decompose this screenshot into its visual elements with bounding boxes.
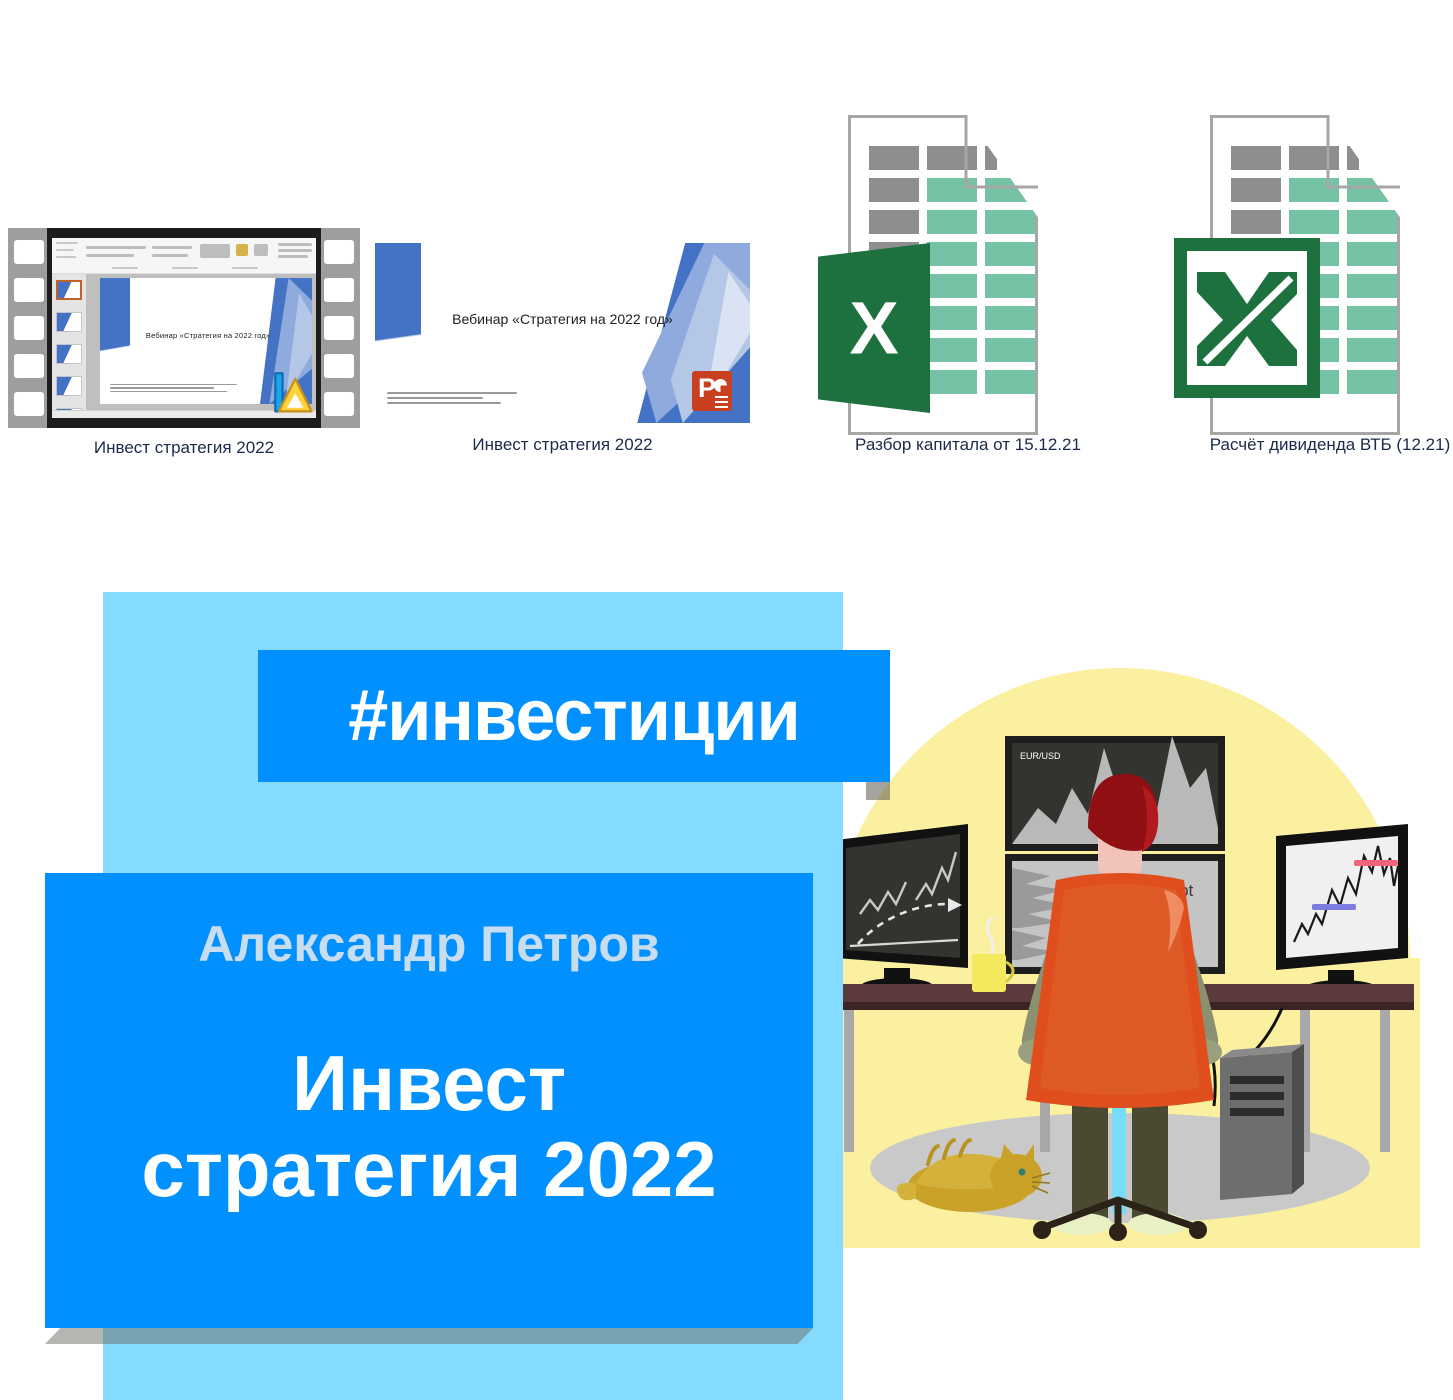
slide-title-text: Вебинар «Стратегия на 2022 год» — [134, 331, 282, 340]
slide-decoration-right — [630, 243, 750, 423]
slide-thumb — [56, 344, 82, 364]
film-hole-icon — [14, 278, 44, 302]
hashtag-box-shadow — [866, 782, 890, 800]
film-hole-icon — [324, 392, 354, 416]
banner-title-line2: стратегия 2022 — [45, 1127, 813, 1213]
film-hole-icon — [14, 240, 44, 264]
thumbnail-caption: Инвест стратегия 2022 — [8, 438, 360, 458]
monitor-label-eurusd: EUR/USD — [1020, 751, 1061, 761]
powerpoint-badge-letter: P — [698, 375, 716, 402]
banner-title-line1: Инвест — [45, 1041, 813, 1127]
ribbon-toolbar — [52, 238, 316, 274]
video-preview-screen: Вебинар «Стратегия на 2022 год» — [47, 228, 321, 428]
thumbnail-powerpoint-file[interactable]: Вебинар «Стратегия на 2022 год» P Инвест… — [375, 243, 750, 423]
slide-footnote — [110, 384, 237, 395]
hashtag-text: #инвестиции — [258, 650, 890, 782]
film-hole-icon — [324, 240, 354, 264]
trader-at-desk-illustration: EUR/USD 147pt — [820, 628, 1420, 1328]
excel-badge-letter: X — [849, 286, 898, 371]
slide-thumb — [56, 376, 82, 396]
thumbnail-excel-file[interactable]: X Разбор капитала от 15.12.21 — [818, 105, 1118, 455]
film-hole-icon — [14, 316, 44, 340]
thumbnail-caption: Инвест стратегия 2022 — [375, 435, 750, 455]
speaker-name: Александр Петров — [45, 915, 813, 973]
banner-main-box: Александр Петров Инвест стратегия 2022 — [45, 873, 813, 1328]
excel-legacy-badge-icon — [1174, 238, 1320, 398]
thumbnail-caption: Расчёт дивиденда ВТБ (12.21) — [1180, 435, 1453, 455]
page-root: Вебинар «Стратегия на 2022 год» — [0, 0, 1453, 1400]
hashtag-box: #инвестиции — [258, 650, 890, 782]
slide-title-text: Вебинар «Стратегия на 2022 год» — [452, 311, 673, 327]
slide-footnote — [387, 392, 517, 407]
excel-badge-icon: X — [818, 243, 930, 413]
film-strip-frame: Вебинар «Стратегия на 2022 год» — [8, 228, 360, 428]
main-box-shadow — [45, 1328, 813, 1344]
slide-thumb — [56, 280, 82, 300]
film-hole-icon — [14, 354, 44, 378]
file-thumbnail-row: Вебинар «Стратегия на 2022 год» — [0, 0, 1453, 500]
banner-title: Инвест стратегия 2022 — [45, 1041, 813, 1213]
film-hole-icon — [324, 354, 354, 378]
film-hole-icon — [324, 278, 354, 302]
film-hole-icon — [324, 316, 354, 340]
thumbnail-video-file[interactable]: Вебинар «Стратегия на 2022 год» — [8, 228, 360, 428]
promo-banner: EUR/USD 147pt — [0, 560, 1453, 1400]
thumbnail-excel-legacy-file[interactable]: Расчёт дивиденда ВТБ (12.21) — [1180, 105, 1453, 455]
slide-thumbnail-pane — [52, 274, 86, 410]
thumbnail-caption: Разбор капитала от 15.12.21 — [818, 435, 1118, 455]
slide-thumb — [56, 312, 82, 332]
excel-legacy-x-glyph — [1191, 254, 1303, 382]
media-player-logo-icon — [259, 366, 317, 424]
film-hole-icon — [14, 392, 44, 416]
powerpoint-badge-icon: P — [692, 371, 732, 411]
powerpoint-slide-preview: Вебинар «Стратегия на 2022 год» P — [375, 243, 750, 423]
